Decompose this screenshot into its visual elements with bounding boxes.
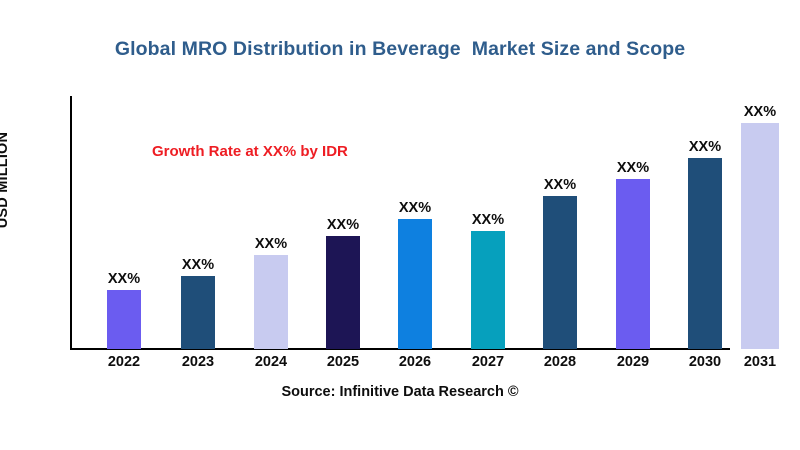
bar-value-label: XX% bbox=[617, 160, 649, 176]
bar-rect bbox=[398, 219, 432, 349]
bar-2030[interactable]: XX% bbox=[688, 158, 722, 349]
x-tick-2024: 2024 bbox=[255, 354, 287, 370]
bar-value-label: XX% bbox=[108, 271, 140, 287]
bar-2028[interactable]: XX% bbox=[543, 196, 577, 349]
bar-2022[interactable]: XX% bbox=[107, 290, 141, 349]
chart-container: Global MRO Distribution in Beverage Mark… bbox=[0, 0, 800, 450]
bar-2031[interactable]: XX% bbox=[741, 123, 779, 349]
bar-rect bbox=[254, 255, 288, 349]
source-note: Source: Infinitive Data Research © bbox=[0, 384, 800, 400]
bar-2027[interactable]: XX% bbox=[471, 231, 505, 349]
bar-value-label: XX% bbox=[182, 257, 214, 273]
bar-rect bbox=[688, 158, 722, 349]
x-tick-2022: 2022 bbox=[108, 354, 140, 370]
bar-value-label: XX% bbox=[689, 139, 721, 155]
bar-value-label: XX% bbox=[255, 236, 287, 252]
bar-value-label: XX% bbox=[399, 200, 431, 216]
bar-rect bbox=[543, 196, 577, 349]
bar-2024[interactable]: XX% bbox=[254, 255, 288, 349]
x-tick-2029: 2029 bbox=[617, 354, 649, 370]
bar-rect bbox=[616, 179, 650, 349]
bar-rect bbox=[741, 123, 779, 349]
bar-2029[interactable]: XX% bbox=[616, 179, 650, 349]
x-tick-2027: 2027 bbox=[472, 354, 504, 370]
bar-value-label: XX% bbox=[744, 104, 776, 120]
bar-rect bbox=[471, 231, 505, 349]
bar-value-label: XX% bbox=[544, 177, 576, 193]
bar-2023[interactable]: XX% bbox=[181, 276, 215, 349]
x-tick-2028: 2028 bbox=[544, 354, 576, 370]
bar-rect bbox=[326, 236, 360, 349]
bar-rect bbox=[107, 290, 141, 349]
x-tick-2023: 2023 bbox=[182, 354, 214, 370]
x-tick-2025: 2025 bbox=[327, 354, 359, 370]
x-tick-2031: 2031 bbox=[744, 354, 776, 370]
bar-2026[interactable]: XX% bbox=[398, 219, 432, 349]
bar-value-label: XX% bbox=[327, 217, 359, 233]
bar-value-label: XX% bbox=[472, 212, 504, 228]
x-tick-2030: 2030 bbox=[689, 354, 721, 370]
bar-rect bbox=[181, 276, 215, 349]
bar-series: XX%XX%XX%XX%XX%XX%XX%XX%XX%XX% bbox=[0, 0, 800, 450]
bar-2025[interactable]: XX% bbox=[326, 236, 360, 349]
x-tick-2026: 2026 bbox=[399, 354, 431, 370]
